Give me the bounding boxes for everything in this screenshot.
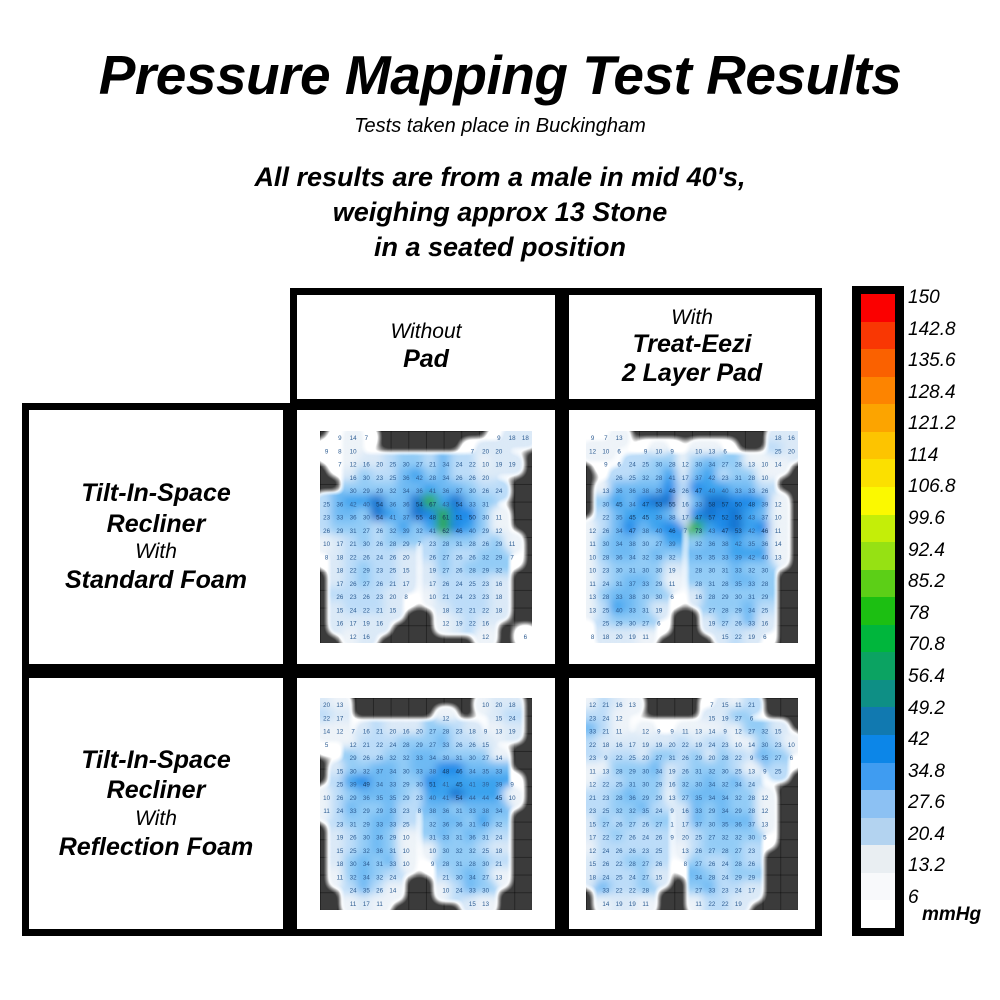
- note-line-3: in a seated position: [0, 230, 1000, 265]
- colorbar-band-14: [861, 680, 895, 708]
- svg-text:22: 22: [602, 515, 609, 522]
- svg-text:24: 24: [602, 874, 609, 881]
- svg-text:35: 35: [708, 554, 715, 561]
- svg-text:24: 24: [456, 462, 463, 469]
- svg-text:42: 42: [748, 528, 755, 535]
- svg-text:27: 27: [708, 847, 715, 854]
- svg-text:24: 24: [350, 887, 357, 894]
- svg-text:28: 28: [469, 541, 476, 548]
- svg-text:10: 10: [775, 515, 782, 522]
- svg-text:26: 26: [642, 821, 649, 828]
- svg-text:30: 30: [748, 834, 755, 841]
- svg-text:26: 26: [655, 834, 662, 841]
- svg-text:34: 34: [376, 781, 383, 788]
- svg-text:38: 38: [722, 541, 729, 548]
- svg-text:34: 34: [629, 501, 636, 508]
- svg-text:27: 27: [775, 755, 782, 762]
- svg-text:19: 19: [735, 900, 742, 907]
- svg-text:15: 15: [403, 568, 410, 575]
- svg-text:22: 22: [350, 568, 357, 575]
- svg-text:19: 19: [642, 741, 649, 748]
- svg-text:36: 36: [376, 847, 383, 854]
- svg-text:28: 28: [442, 861, 449, 868]
- svg-text:11: 11: [735, 702, 742, 709]
- svg-text:38: 38: [629, 594, 636, 601]
- svg-text:56: 56: [735, 515, 742, 522]
- svg-text:33: 33: [748, 488, 755, 495]
- svg-text:36: 36: [469, 834, 476, 841]
- svg-text:17: 17: [336, 581, 343, 588]
- svg-text:34: 34: [735, 781, 742, 788]
- svg-text:13: 13: [761, 821, 768, 828]
- colorbar-band-1: [861, 322, 895, 350]
- pressure-map-cell-standard-with-pad[interactable]: 9713181612106910910136252096242530281230…: [562, 403, 822, 671]
- svg-text:46: 46: [669, 488, 676, 495]
- svg-text:39: 39: [735, 554, 742, 561]
- svg-text:6: 6: [763, 634, 767, 641]
- svg-text:28: 28: [722, 847, 729, 854]
- svg-text:12: 12: [350, 634, 357, 641]
- svg-text:26: 26: [456, 568, 463, 575]
- svg-text:15: 15: [722, 634, 729, 641]
- svg-text:23: 23: [336, 821, 343, 828]
- svg-text:45: 45: [642, 515, 649, 522]
- row1-line-2: Recliner: [65, 509, 247, 540]
- svg-text:10: 10: [735, 741, 742, 748]
- svg-text:36: 36: [708, 541, 715, 548]
- svg-text:42: 42: [708, 475, 715, 482]
- colorbar-label-99.6: 99.6: [908, 509, 945, 528]
- svg-text:27: 27: [722, 621, 729, 628]
- svg-text:35: 35: [695, 794, 702, 801]
- colorbar-label-142.8: 142.8: [908, 320, 956, 339]
- svg-text:62: 62: [442, 528, 449, 535]
- svg-text:33: 33: [469, 887, 476, 894]
- svg-text:31: 31: [735, 475, 742, 482]
- svg-text:30: 30: [642, 768, 649, 775]
- svg-text:11: 11: [350, 900, 357, 907]
- svg-text:34: 34: [722, 808, 729, 815]
- svg-text:32: 32: [416, 528, 423, 535]
- svg-text:37: 37: [456, 488, 463, 495]
- svg-text:17: 17: [429, 581, 436, 588]
- svg-text:35: 35: [376, 794, 383, 801]
- svg-text:32: 32: [642, 554, 649, 561]
- row1-line-3: With: [65, 539, 247, 565]
- svg-text:11: 11: [509, 541, 516, 548]
- svg-text:36: 36: [416, 488, 423, 495]
- svg-text:33: 33: [695, 808, 702, 815]
- svg-text:8: 8: [338, 448, 342, 455]
- svg-text:30: 30: [642, 568, 649, 575]
- colorbar-label-42: 42: [908, 730, 929, 749]
- svg-text:41: 41: [429, 488, 436, 495]
- svg-text:12: 12: [761, 794, 768, 801]
- svg-text:25: 25: [336, 781, 343, 788]
- svg-text:20: 20: [323, 702, 330, 709]
- svg-text:13: 13: [602, 488, 609, 495]
- svg-text:27: 27: [363, 528, 370, 535]
- svg-text:20: 20: [482, 448, 489, 455]
- svg-text:23: 23: [456, 728, 463, 735]
- svg-text:26: 26: [469, 475, 476, 482]
- svg-text:26: 26: [708, 861, 715, 868]
- pressure-map-canvas-2: 2013102018221712152414127162120162027282…: [320, 698, 532, 910]
- svg-text:20: 20: [788, 448, 795, 455]
- svg-text:31: 31: [482, 501, 489, 508]
- svg-text:50: 50: [469, 515, 476, 522]
- svg-text:6: 6: [617, 448, 621, 455]
- svg-text:30: 30: [363, 541, 370, 548]
- svg-text:24: 24: [376, 554, 383, 561]
- svg-text:6: 6: [790, 755, 794, 762]
- svg-text:29: 29: [389, 834, 396, 841]
- svg-text:32: 32: [695, 541, 702, 548]
- colorbar-label-34.8: 34.8: [908, 762, 945, 781]
- svg-text:30: 30: [642, 781, 649, 788]
- svg-text:21: 21: [429, 462, 436, 469]
- svg-text:16: 16: [482, 621, 489, 628]
- svg-text:10: 10: [442, 887, 449, 894]
- pressure-map-cell-standard-without-pad[interactable]: 9147918189810720207121620253027213424221…: [290, 403, 562, 671]
- colorbar-unit-label: mmHg: [922, 904, 981, 926]
- svg-text:28: 28: [708, 874, 715, 881]
- pressure-map-3: 1221161371511212324121519276332111129911…: [586, 698, 798, 910]
- svg-text:30: 30: [363, 515, 370, 522]
- svg-text:24: 24: [456, 581, 463, 588]
- svg-text:25: 25: [616, 874, 623, 881]
- pressure-map-cell-reflection-with-pad[interactable]: 1221161371511212324121519276332111129911…: [562, 671, 822, 936]
- svg-text:36: 36: [442, 488, 449, 495]
- column-header-big-2: Treat-Eezi: [622, 330, 762, 359]
- svg-text:31: 31: [695, 768, 702, 775]
- svg-text:29: 29: [748, 874, 755, 881]
- note-line-1: All results are from a male in mid 40's,: [0, 160, 1000, 195]
- svg-text:28: 28: [469, 861, 476, 868]
- colorbar-band-15: [861, 707, 895, 735]
- svg-text:18: 18: [522, 435, 529, 442]
- svg-text:24: 24: [495, 488, 502, 495]
- svg-text:12: 12: [735, 728, 742, 735]
- svg-text:15: 15: [775, 728, 782, 735]
- column-header-big-1: Pad: [390, 345, 461, 374]
- svg-text:14: 14: [748, 741, 755, 748]
- svg-text:18: 18: [442, 607, 449, 614]
- svg-text:16: 16: [788, 435, 795, 442]
- svg-text:30: 30: [655, 594, 662, 601]
- svg-text:33: 33: [389, 821, 396, 828]
- svg-text:9: 9: [604, 755, 608, 762]
- svg-text:24: 24: [748, 781, 755, 788]
- colorbar-label-13.2: 13.2: [908, 856, 945, 875]
- svg-text:27: 27: [482, 874, 489, 881]
- svg-text:16: 16: [363, 728, 370, 735]
- svg-text:13: 13: [495, 728, 502, 735]
- svg-text:27: 27: [602, 821, 609, 828]
- svg-text:20: 20: [682, 834, 689, 841]
- svg-text:22: 22: [602, 781, 609, 788]
- svg-text:17: 17: [336, 541, 343, 548]
- svg-text:10: 10: [323, 794, 330, 801]
- svg-text:28: 28: [616, 768, 623, 775]
- svg-text:22: 22: [616, 887, 623, 894]
- svg-text:11: 11: [337, 874, 344, 881]
- svg-text:36: 36: [655, 488, 662, 495]
- svg-text:27: 27: [429, 741, 436, 748]
- svg-text:28: 28: [695, 581, 702, 588]
- svg-text:35: 35: [642, 808, 649, 815]
- svg-text:30: 30: [350, 768, 357, 775]
- svg-text:30: 30: [642, 541, 649, 548]
- svg-text:10: 10: [509, 794, 516, 801]
- svg-text:28: 28: [602, 594, 609, 601]
- svg-text:12: 12: [761, 808, 768, 815]
- svg-text:31: 31: [456, 861, 463, 868]
- svg-text:35: 35: [389, 794, 396, 801]
- svg-text:32: 32: [363, 768, 370, 775]
- svg-text:31: 31: [376, 861, 383, 868]
- svg-text:30: 30: [655, 568, 662, 575]
- svg-text:16: 16: [682, 501, 689, 508]
- svg-text:18: 18: [602, 634, 609, 641]
- svg-text:22: 22: [735, 755, 742, 762]
- svg-text:13: 13: [336, 702, 343, 709]
- svg-text:12: 12: [616, 715, 623, 722]
- svg-text:28: 28: [403, 741, 410, 748]
- svg-text:13: 13: [775, 554, 782, 561]
- svg-text:23: 23: [376, 568, 383, 575]
- svg-text:28: 28: [722, 755, 729, 762]
- svg-text:24: 24: [602, 847, 609, 854]
- svg-text:16: 16: [669, 781, 676, 788]
- svg-text:29: 29: [403, 781, 410, 788]
- colorbar-band-18: [861, 790, 895, 818]
- svg-text:12: 12: [775, 501, 782, 508]
- svg-text:35: 35: [363, 887, 370, 894]
- svg-text:45: 45: [456, 781, 463, 788]
- svg-text:29: 29: [495, 541, 502, 548]
- svg-text:33: 33: [416, 768, 423, 775]
- svg-text:13: 13: [708, 448, 715, 455]
- svg-text:23: 23: [429, 541, 436, 548]
- svg-text:11: 11: [642, 900, 649, 907]
- svg-text:8: 8: [684, 861, 688, 868]
- svg-text:32: 32: [761, 728, 768, 735]
- svg-text:27: 27: [708, 834, 715, 841]
- svg-text:22: 22: [708, 900, 715, 907]
- svg-text:24: 24: [389, 874, 396, 881]
- svg-text:18: 18: [336, 554, 343, 561]
- svg-text:7: 7: [351, 728, 355, 735]
- column-header-without-pad: Without Pad: [290, 288, 562, 406]
- svg-text:30: 30: [403, 462, 410, 469]
- svg-text:11: 11: [589, 768, 596, 775]
- svg-text:38: 38: [429, 768, 436, 775]
- svg-text:19: 19: [509, 728, 516, 735]
- svg-text:32: 32: [456, 847, 463, 854]
- svg-text:11: 11: [589, 581, 596, 588]
- svg-text:19: 19: [748, 634, 755, 641]
- svg-text:31: 31: [429, 834, 436, 841]
- svg-text:14: 14: [495, 755, 502, 762]
- svg-text:18: 18: [589, 874, 596, 881]
- svg-text:14: 14: [708, 728, 715, 735]
- colorbar-label-106.8: 106.8: [908, 477, 956, 496]
- svg-text:33: 33: [602, 887, 609, 894]
- svg-text:25: 25: [602, 621, 609, 628]
- svg-text:13: 13: [495, 874, 502, 881]
- svg-text:21: 21: [442, 874, 449, 881]
- svg-text:36: 36: [336, 501, 343, 508]
- svg-text:30: 30: [616, 568, 623, 575]
- colorbar-band-8: [861, 515, 895, 543]
- svg-text:24: 24: [629, 874, 636, 881]
- svg-text:53: 53: [655, 501, 662, 508]
- colorbar-band-12: [861, 625, 895, 653]
- svg-text:32: 32: [376, 874, 383, 881]
- row1-line-4: Standard Foam: [65, 565, 247, 596]
- svg-text:9: 9: [763, 768, 767, 775]
- svg-text:31: 31: [669, 755, 676, 762]
- svg-text:29: 29: [376, 488, 383, 495]
- svg-text:19: 19: [695, 741, 702, 748]
- svg-text:25: 25: [761, 607, 768, 614]
- svg-text:26: 26: [389, 554, 396, 561]
- svg-text:36: 36: [442, 821, 449, 828]
- svg-text:16: 16: [495, 581, 502, 588]
- svg-text:36: 36: [376, 834, 383, 841]
- svg-text:28: 28: [761, 581, 768, 588]
- svg-text:29: 29: [350, 794, 357, 801]
- svg-text:30: 30: [482, 887, 489, 894]
- svg-text:47: 47: [642, 501, 649, 508]
- svg-text:32: 32: [469, 847, 476, 854]
- colorbar-label-56.4: 56.4: [908, 667, 945, 686]
- svg-text:30: 30: [629, 621, 636, 628]
- svg-text:12: 12: [336, 728, 343, 735]
- svg-text:27: 27: [695, 861, 702, 868]
- svg-text:11: 11: [669, 581, 676, 588]
- svg-text:37: 37: [376, 768, 383, 775]
- svg-text:19: 19: [509, 462, 516, 469]
- svg-text:31: 31: [482, 834, 489, 841]
- svg-text:29: 29: [735, 808, 742, 815]
- colorbar-band-9: [861, 542, 895, 570]
- svg-text:27: 27: [695, 887, 702, 894]
- svg-text:29: 29: [655, 794, 662, 801]
- svg-text:25: 25: [389, 475, 396, 482]
- svg-text:19: 19: [655, 741, 662, 748]
- svg-text:20: 20: [482, 475, 489, 482]
- svg-text:30: 30: [761, 568, 768, 575]
- svg-text:44: 44: [482, 794, 489, 801]
- svg-text:12: 12: [589, 847, 596, 854]
- svg-text:30: 30: [456, 874, 463, 881]
- svg-text:26: 26: [376, 541, 383, 548]
- svg-text:32: 32: [735, 834, 742, 841]
- svg-text:32: 32: [748, 568, 755, 575]
- svg-text:45: 45: [495, 794, 502, 801]
- colorbar-label-121.2: 121.2: [908, 414, 956, 433]
- svg-text:54: 54: [376, 515, 383, 522]
- svg-text:13: 13: [748, 768, 755, 775]
- svg-text:42: 42: [350, 501, 357, 508]
- page-header: Pressure Mapping Test Results Tests take…: [0, 0, 1000, 265]
- svg-text:9: 9: [510, 781, 514, 788]
- svg-text:20: 20: [708, 755, 715, 762]
- svg-text:29: 29: [363, 568, 370, 575]
- svg-text:54: 54: [376, 501, 383, 508]
- svg-text:32: 32: [722, 781, 729, 788]
- svg-text:8: 8: [404, 594, 408, 601]
- svg-text:48: 48: [748, 501, 755, 508]
- colorbar-tick-labels: mmHg 150142.8135.6128.4121.2114106.899.6…: [908, 286, 1000, 936]
- svg-text:24: 24: [336, 808, 343, 815]
- svg-text:37: 37: [695, 821, 702, 828]
- svg-text:35: 35: [748, 541, 755, 548]
- svg-text:12: 12: [350, 462, 357, 469]
- svg-text:26: 26: [376, 755, 383, 762]
- svg-text:51: 51: [429, 781, 436, 788]
- svg-text:34: 34: [442, 475, 449, 482]
- svg-text:31: 31: [389, 847, 396, 854]
- svg-text:25: 25: [389, 568, 396, 575]
- colorbar-label-92.4: 92.4: [908, 541, 945, 560]
- colorbar-label-128.4: 128.4: [908, 383, 956, 402]
- svg-text:23: 23: [403, 808, 410, 815]
- page-title: Pressure Mapping Test Results: [0, 48, 1000, 103]
- svg-text:34: 34: [616, 541, 623, 548]
- svg-text:36: 36: [616, 488, 623, 495]
- svg-text:14: 14: [350, 435, 357, 442]
- svg-text:33: 33: [695, 501, 702, 508]
- svg-text:25: 25: [616, 781, 623, 788]
- pressure-colorbar: [852, 286, 904, 936]
- pressure-map-cell-reflection-without-pad[interactable]: 2013102018221712152414127162120162027282…: [290, 671, 562, 936]
- svg-text:24: 24: [655, 808, 662, 815]
- svg-text:22: 22: [323, 715, 330, 722]
- svg-text:33: 33: [416, 755, 423, 762]
- colorbar-band-5: [861, 432, 895, 460]
- svg-text:24: 24: [350, 607, 357, 614]
- svg-text:13: 13: [589, 594, 596, 601]
- svg-text:13: 13: [669, 794, 676, 801]
- svg-text:9: 9: [431, 861, 435, 868]
- svg-text:21: 21: [389, 581, 396, 588]
- svg-text:28: 28: [722, 607, 729, 614]
- svg-text:10: 10: [429, 594, 436, 601]
- svg-text:24: 24: [642, 834, 649, 841]
- svg-text:34: 34: [708, 462, 715, 469]
- svg-text:26: 26: [469, 741, 476, 748]
- svg-text:26: 26: [350, 834, 357, 841]
- svg-text:24: 24: [722, 861, 729, 868]
- svg-text:22: 22: [469, 462, 476, 469]
- svg-text:30: 30: [350, 488, 357, 495]
- svg-text:12: 12: [442, 621, 449, 628]
- svg-text:29: 29: [735, 874, 742, 881]
- colorbar-label-49.2: 49.2: [908, 699, 945, 718]
- svg-text:26: 26: [682, 755, 689, 762]
- svg-text:35: 35: [722, 821, 729, 828]
- svg-text:24: 24: [629, 462, 636, 469]
- svg-text:7: 7: [471, 448, 475, 455]
- svg-text:18: 18: [509, 435, 516, 442]
- svg-text:28: 28: [748, 475, 755, 482]
- svg-text:33: 33: [748, 621, 755, 628]
- svg-text:12: 12: [442, 715, 449, 722]
- column-header-small-1: Without: [390, 320, 461, 344]
